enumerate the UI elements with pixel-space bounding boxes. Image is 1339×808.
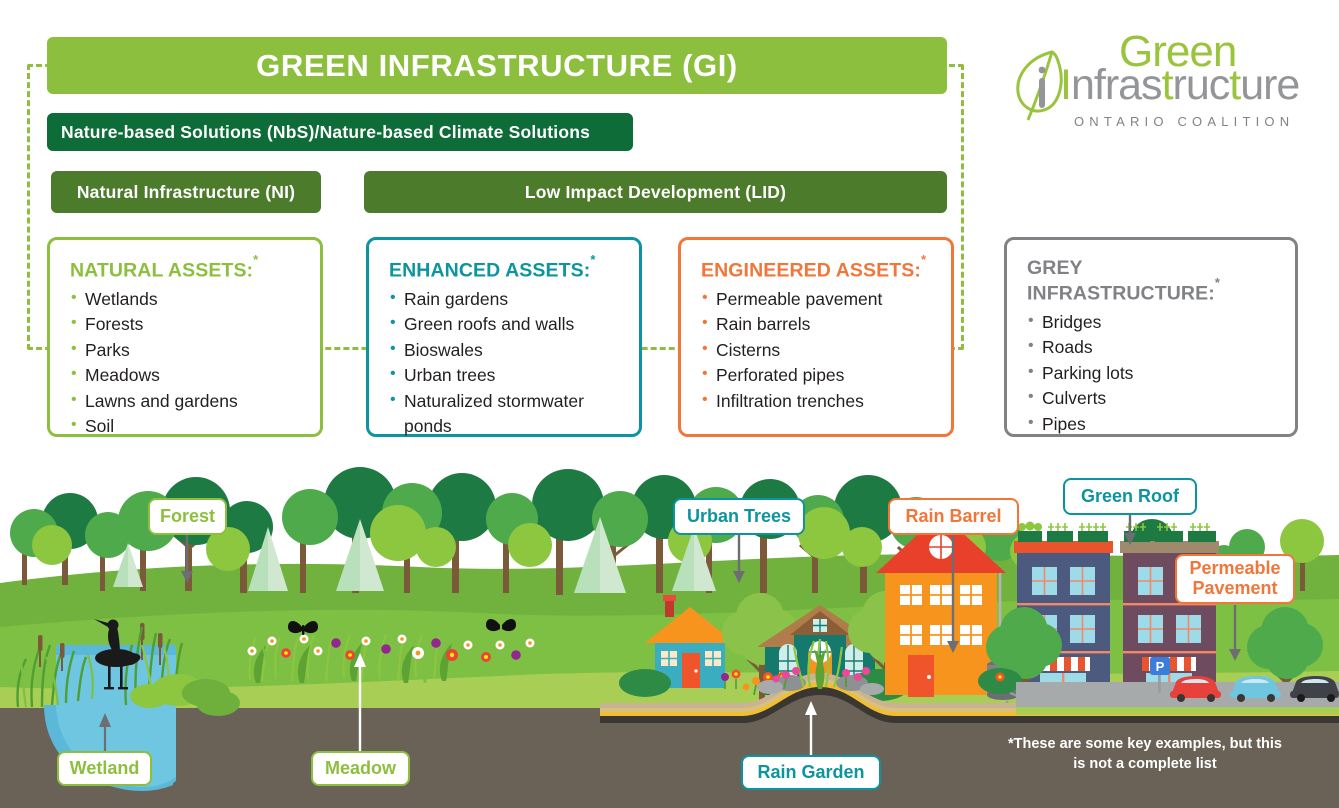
logo-infrastructure-text: Infrastructure	[1060, 64, 1299, 107]
list-item: Roads	[1027, 335, 1279, 361]
banner-green-infrastructure: GREEN INFRASTRUCTURE (GI)	[47, 37, 947, 94]
asterisk-marker: *	[1215, 275, 1220, 290]
footnote-text: *These are some key examples, but this i…	[1000, 735, 1290, 774]
lid-label-text: Low Impact Development (LID)	[525, 182, 786, 203]
callout-label: Urban Trees	[687, 507, 791, 527]
callout-rain-garden: Rain Garden	[741, 755, 881, 790]
infographic-root: P	[0, 0, 1339, 808]
card-engineered-assets: ENGINEERED ASSETS:* Permeable pavement R…	[678, 237, 954, 437]
list-natural-assets: Wetlands Forests Parks Meadows Lawns and…	[70, 287, 304, 440]
list-item: Rain barrels	[701, 312, 935, 338]
callout-green-roof: Green Roof	[1063, 478, 1197, 515]
card-enhanced-assets: ENHANCED ASSETS:* Rain gardens Green roo…	[366, 237, 642, 437]
ni-label-text: Natural Infrastructure (NI)	[77, 182, 295, 203]
list-item: Soil	[70, 414, 304, 440]
card-title-text: ENGINEERED ASSETS:	[701, 260, 921, 282]
list-item: Pipes	[1027, 412, 1279, 438]
list-item: Culverts	[1027, 386, 1279, 412]
card-title-text: NATURAL ASSETS:	[70, 260, 253, 282]
logo-t1-letter: t	[1162, 61, 1173, 109]
banner-natural-infrastructure: Natural Infrastructure (NI)	[51, 171, 321, 213]
list-item: Rain gardens	[389, 287, 623, 313]
card-title-natural-assets: NATURAL ASSETS:*	[70, 257, 304, 283]
callout-label-line1: Permeable	[1189, 559, 1280, 579]
callout-label: Rain Garden	[757, 763, 864, 783]
callout-label-line2: Pavement	[1192, 579, 1277, 599]
list-item: Forests	[70, 312, 304, 338]
logo-ruc-letters: ruc	[1173, 61, 1230, 109]
asterisk-marker: *	[590, 252, 595, 267]
list-item: Lawns and gardens	[70, 389, 304, 415]
callout-label: Rain Barrel	[905, 507, 1001, 527]
callout-label: Wetland	[70, 759, 140, 779]
list-item: Cisterns	[701, 338, 935, 364]
callout-meadow: Meadow	[311, 751, 410, 786]
callout-rain-barrel: Rain Barrel	[888, 498, 1019, 535]
card-title-grey-infrastructure: GREY INFRASTRUCTURE:*	[1027, 257, 1279, 306]
logo-subtitle: ONTARIO COALITION	[1074, 114, 1294, 129]
list-item: Meadows	[70, 363, 304, 389]
list-item: Parking lots	[1027, 361, 1279, 387]
list-enhanced-assets: Rain gardens Green roofs and walls Biosw…	[389, 287, 623, 440]
logo-ure-letters: ure	[1240, 61, 1299, 109]
asterisk-marker: *	[921, 252, 926, 267]
card-title-text: ENHANCED ASSETS:	[389, 260, 590, 282]
list-item: Permeable pavement	[701, 287, 935, 313]
gi-title-text: GREEN INFRASTRUCTURE (GI)	[256, 48, 738, 84]
callout-label: Meadow	[325, 759, 396, 779]
callout-permeable-pavement: Permeable Pavement	[1175, 554, 1295, 604]
list-engineered-assets: Permeable pavement Rain barrels Cisterns…	[701, 287, 935, 415]
list-item: Bridges	[1027, 310, 1279, 336]
svg-text:P: P	[1156, 659, 1165, 674]
list-item: Infiltration trenches	[701, 389, 935, 415]
card-natural-assets: NATURAL ASSETS:* Wetlands Forests Parks …	[47, 237, 323, 437]
logo-t2-letter: t	[1229, 61, 1240, 109]
list-item: Perforated pipes	[701, 363, 935, 389]
banner-nature-based-solutions: Nature-based Solutions (NbS)/Nature-base…	[47, 113, 633, 151]
banner-low-impact-development: Low Impact Development (LID)	[364, 171, 947, 213]
card-grey-infrastructure: GREY INFRASTRUCTURE:* Bridges Roads Park…	[1004, 237, 1298, 437]
card-title-engineered-assets: ENGINEERED ASSETS:*	[701, 257, 935, 283]
list-item: Bioswales	[389, 338, 623, 364]
list-item: Parks	[70, 338, 304, 364]
card-title-text: GREY INFRASTRUCTURE:	[1027, 257, 1215, 305]
gi-ontario-coalition-logo: Green Infrastructure ONTARIO COALITION	[1012, 24, 1302, 134]
callout-label: Forest	[160, 507, 215, 527]
nbs-label-text: Nature-based Solutions (NbS)/Nature-base…	[61, 122, 590, 143]
callout-urban-trees: Urban Trees	[673, 498, 805, 535]
card-title-enhanced-assets: ENHANCED ASSETS:*	[389, 257, 623, 283]
asterisk-marker: *	[253, 252, 258, 267]
callout-forest: Forest	[148, 498, 227, 535]
logo-i-letter: I	[1060, 61, 1071, 109]
list-item: Green roofs and walls	[389, 312, 623, 338]
callout-label: Green Roof	[1081, 487, 1179, 507]
callout-wetland: Wetland	[57, 751, 152, 786]
logo-nfras-letters: nfras	[1071, 61, 1162, 109]
list-item: Urban trees	[389, 363, 623, 389]
list-item: Wetlands	[70, 287, 304, 313]
list-item: Naturalized stormwater ponds	[389, 389, 623, 440]
list-grey-infrastructure: Bridges Roads Parking lots Culverts Pipe…	[1027, 310, 1279, 438]
